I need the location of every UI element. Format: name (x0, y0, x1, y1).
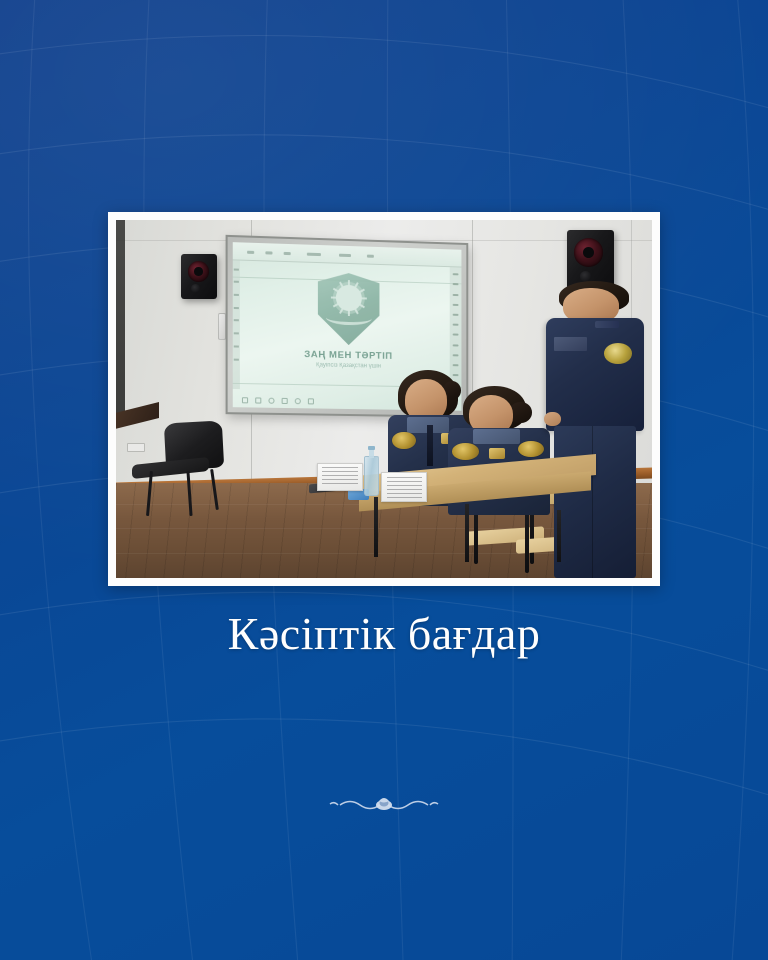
whiteboard-left-toolbar (233, 260, 240, 389)
name-placard-1 (317, 463, 363, 492)
water-bottle (364, 446, 378, 496)
wall-speaker-left-icon (181, 254, 216, 299)
wall-dark-edge (116, 220, 125, 424)
projected-app-toolbar (233, 242, 462, 267)
projected-emblem: ЗАҢ МЕН ТӘРТІП Қауіпсіз Қазақстан үшін (278, 271, 420, 371)
page-title: Кәсіптік бағдар (0, 608, 768, 660)
emblem-subtitle: Қауіпсіз Қазақстан үшін (278, 361, 420, 370)
photo-frame: ЗАҢ МЕН ТӘРТІП Қауіпсіз Қазақстан үшін (108, 212, 660, 586)
shield-icon (318, 272, 380, 346)
slide-canvas: ЗАҢ МЕН ТӘРТІП Қауіпсіз Қазақстан үшін (0, 0, 768, 960)
classroom-photo: ЗАҢ МЕН ТӘРТІП Қауіпсіз Қазақстан үшін (116, 220, 652, 578)
decorative-divider (0, 792, 768, 818)
black-office-chair (132, 422, 228, 515)
shoulder-insignia-icon (604, 343, 632, 364)
name-placard-2 (381, 472, 427, 502)
police-chest-patch (554, 337, 586, 350)
whiteboard-bottom-icons (243, 397, 315, 404)
emblem-title: ЗАҢ МЕН ТӘРТІП (278, 348, 420, 362)
